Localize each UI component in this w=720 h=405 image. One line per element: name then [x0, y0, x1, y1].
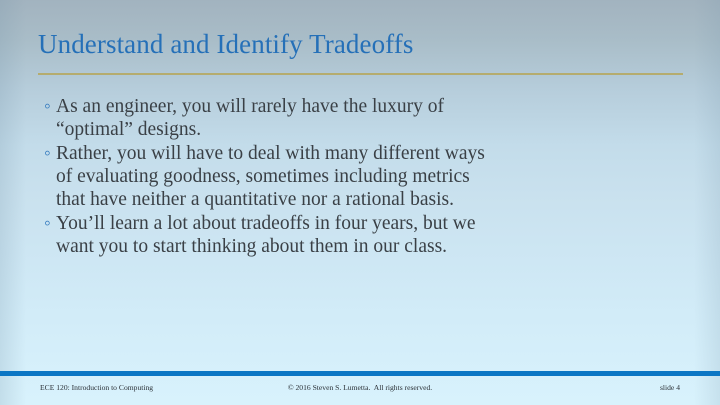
bullet-marker-icon: ◦	[41, 95, 56, 118]
title-area: Understand and Identify Tradeoffs	[38, 28, 684, 60]
bullet-marker-icon: ◦	[41, 212, 56, 235]
bullet-marker-icon: ◦	[41, 142, 56, 165]
footer-copyright-label: © 2016 Steven S. Lumetta. All rights res…	[0, 383, 720, 393]
title-underline-rule	[38, 73, 683, 75]
list-item: ◦ As an engineer, you will rarely have t…	[41, 95, 651, 141]
bullet-list: ◦ As an engineer, you will rarely have t…	[41, 95, 651, 259]
list-item: ◦ Rather, you will have to deal with man…	[41, 142, 651, 212]
list-item-text: As an engineer, you will rarely have the…	[56, 95, 486, 141]
list-item-text: You’ll learn a lot about tradeoffs in fo…	[56, 212, 486, 258]
footer-slide-number: slide 4	[660, 383, 680, 393]
slide-footer: ECE 120: Introduction to Computing © 201…	[0, 383, 720, 397]
page-title: Understand and Identify Tradeoffs	[38, 28, 684, 60]
footer-divider-bar	[0, 371, 720, 376]
list-item-text: Rather, you will have to deal with many …	[56, 142, 486, 212]
presentation-slide: Understand and Identify Tradeoffs ◦ As a…	[0, 0, 720, 405]
list-item: ◦ You’ll learn a lot about tradeoffs in …	[41, 212, 651, 258]
